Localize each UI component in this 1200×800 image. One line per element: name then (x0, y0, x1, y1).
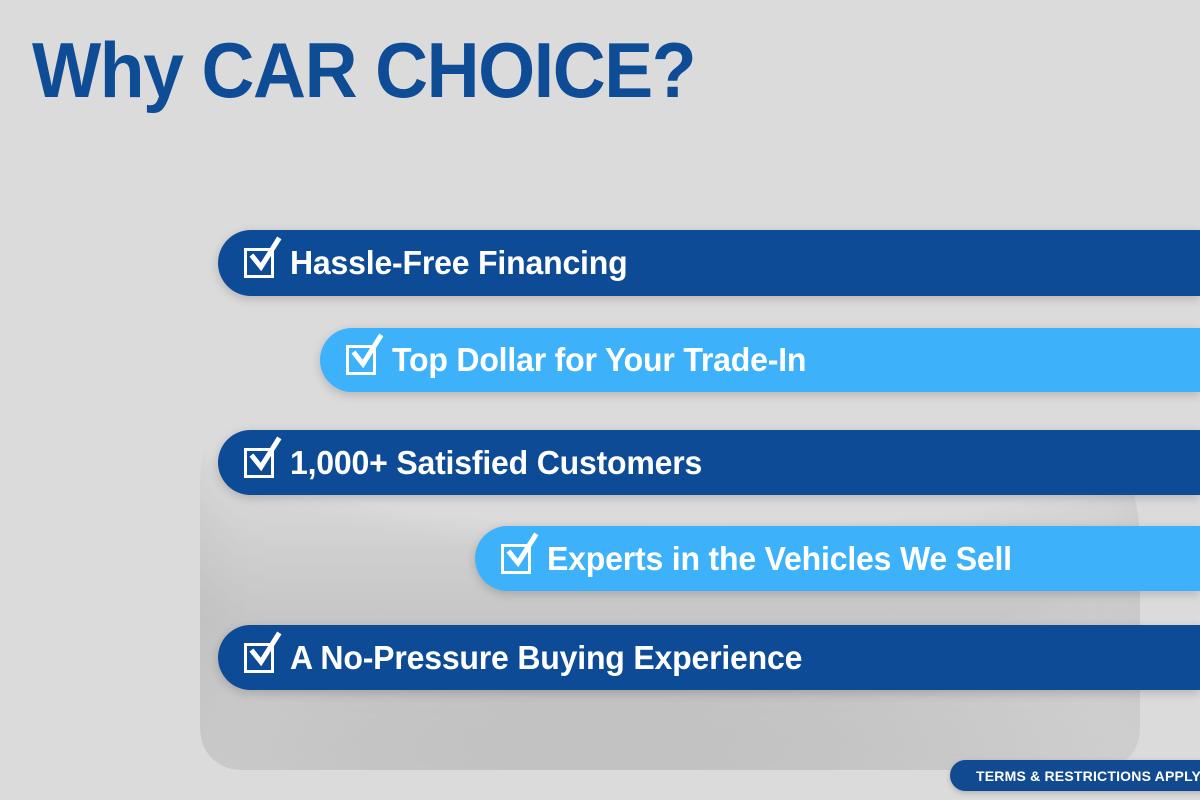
promo-graphic: Why CAR CHOICE? Hassle-Free Financing To… (0, 0, 1200, 800)
benefit-banner-4[interactable]: Experts in the Vehicles We Sell (475, 526, 1200, 591)
checkbox-checked-icon (244, 448, 274, 478)
benefit-banner-2[interactable]: Top Dollar for Your Trade-In (320, 328, 1200, 392)
benefit-banner-5[interactable]: A No-Pressure Buying Experience (218, 625, 1200, 690)
benefit-banner-3[interactable]: 1,000+ Satisfied Customers (218, 430, 1200, 495)
checkbox-checked-icon (244, 643, 274, 673)
checkbox-checked-icon (346, 345, 376, 375)
benefit-label: Hassle-Free Financing (290, 244, 627, 282)
benefit-label: Experts in the Vehicles We Sell (547, 540, 1012, 578)
benefit-label: A No-Pressure Buying Experience (290, 639, 802, 677)
checkbox-checked-icon (244, 248, 274, 278)
benefit-label: Top Dollar for Your Trade-In (392, 341, 806, 379)
benefit-label: 1,000+ Satisfied Customers (290, 444, 702, 482)
benefit-banner-1[interactable]: Hassle-Free Financing (218, 230, 1200, 296)
terms-label: TERMS & RESTRICTIONS APPLY (976, 768, 1200, 784)
terms-and-restrictions-badge[interactable]: TERMS & RESTRICTIONS APPLY (950, 760, 1200, 791)
checkbox-checked-icon (501, 544, 531, 574)
page-title: Why CAR CHOICE? (32, 31, 695, 109)
